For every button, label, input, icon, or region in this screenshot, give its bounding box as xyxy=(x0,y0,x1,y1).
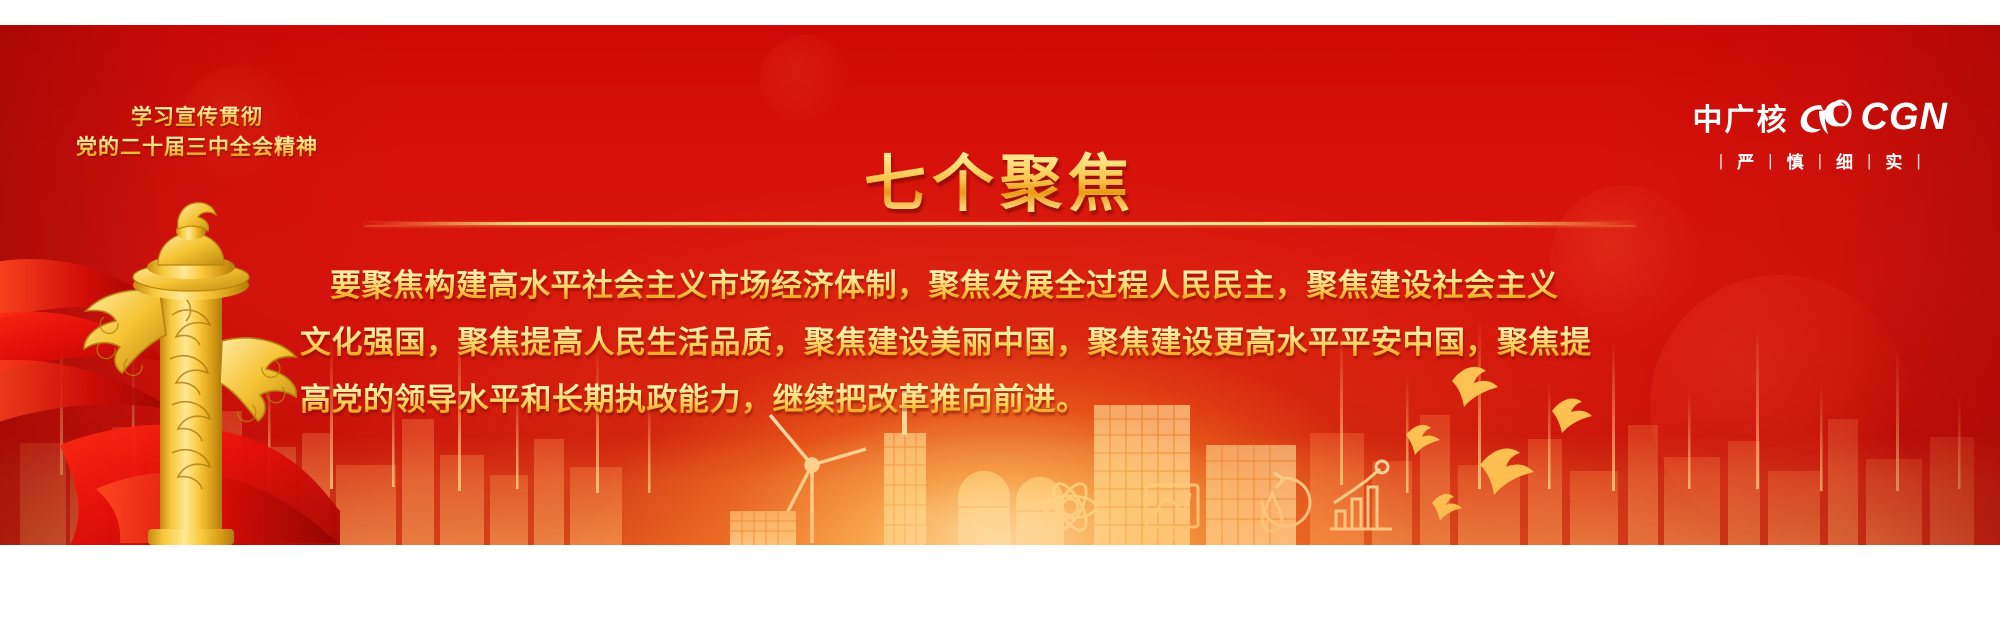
title-divider xyxy=(365,222,1635,225)
banner-artboard: 学习宣传贯彻 党的二十届三中全会精神 七个聚焦 要聚焦构建高水平社会主义市场经济… xyxy=(0,25,2000,545)
logo-wordmark-row: 中广核 CGN xyxy=(1693,95,1948,139)
logo-tagline: | 严 | 慎 | 细 | 实 | xyxy=(1693,148,1948,173)
cloud-board-right xyxy=(220,338,296,421)
cgn-swirl-mark xyxy=(1795,97,1855,137)
propaganda-banner: 学习宣传贯彻 党的二十届三中全会精神 七个聚焦 要聚焦构建高水平社会主义市场经济… xyxy=(0,0,2000,625)
bottom-white-margin xyxy=(0,545,2000,625)
main-title-text: 七个聚焦 xyxy=(864,133,1136,223)
body-line-1: 要聚焦构建高水平社会主义市场经济体制，聚焦发展全过程人民民主，聚焦建设社会主义 xyxy=(300,257,1700,314)
column-base xyxy=(148,529,234,545)
bokeh-circle-center xyxy=(760,35,850,125)
tagline-sep-3: | xyxy=(1856,151,1883,171)
tagline-sep-1: | xyxy=(1757,151,1784,171)
cgn-logo: 中广核 CGN | 严 | 慎 | 细 | 实 | xyxy=(1693,95,1948,173)
tagline-sep-4: | xyxy=(1905,151,1932,171)
tagline-sep-2: | xyxy=(1807,151,1834,171)
tagline-char-4: 实 xyxy=(1883,148,1905,173)
body-paragraph: 要聚焦构建高水平社会主义市场经济体制，聚焦发展全过程人民民主，聚焦建设社会主义 … xyxy=(300,257,1700,428)
tagline-char-3: 细 xyxy=(1834,148,1856,173)
column-shaft xyxy=(160,283,222,533)
slogan-line-1: 学习宣传贯彻 xyxy=(72,103,322,133)
tagline-sep-0: | xyxy=(1708,151,1735,171)
grid-building-small xyxy=(730,511,796,545)
top-white-margin xyxy=(0,0,2000,25)
body-line-3: 高党的领导水平和长期执政能力，继续把改革推向前进。 xyxy=(300,371,1700,428)
nuclear-reactor-domes xyxy=(958,471,1064,545)
grid-tower xyxy=(1206,445,1296,545)
cloud-board-left xyxy=(84,290,166,373)
logo-chinese-name: 中广核 xyxy=(1693,95,1789,139)
tagline-char-1: 严 xyxy=(1735,148,1757,173)
tagline-char-2: 慎 xyxy=(1785,148,1807,173)
body-line-2: 文化强国，聚焦提高人民生活品质，聚焦建设美丽中国，聚焦建设更高水平平安中国，聚焦… xyxy=(300,314,1700,371)
logo-english-name: CGN xyxy=(1861,96,1948,139)
